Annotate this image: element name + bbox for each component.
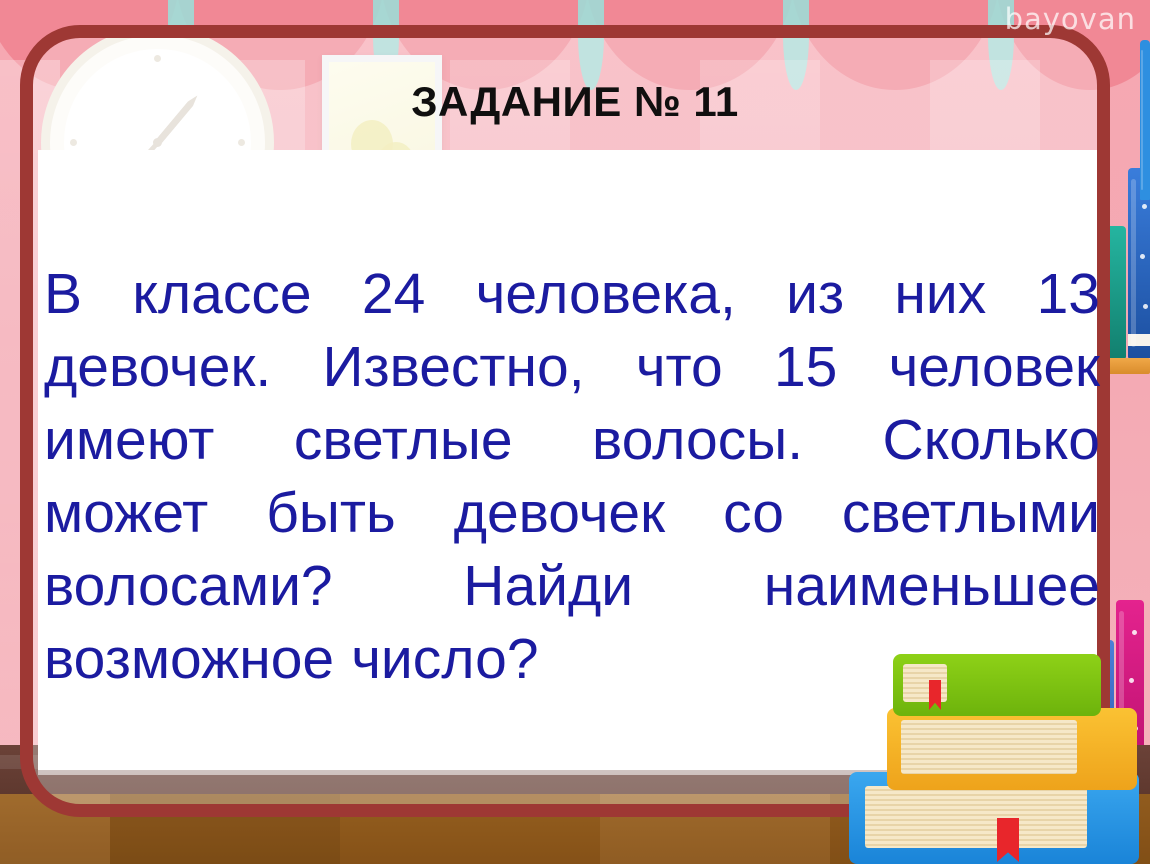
page-title: ЗАДАНИЕ № 11	[0, 78, 1150, 126]
task-word: имеют	[44, 404, 214, 477]
task-text-line: может быть девочек со светлыми	[44, 477, 1100, 550]
task-text-line: имеют светлые волосы. Сколько	[44, 404, 1100, 477]
task-text: В классе 24 человека, из них 13 девочек.…	[44, 258, 1100, 696]
task-word: В	[44, 258, 82, 331]
task-text-line: волосами? Найди наименьшее	[44, 550, 1100, 623]
task-word: светлые	[294, 404, 513, 477]
task-word: 13	[1037, 258, 1100, 331]
task-word: наименьшее	[764, 550, 1100, 623]
book-dot	[1143, 304, 1148, 309]
task-word: классе	[132, 258, 311, 331]
book-yellow	[887, 708, 1137, 790]
task-word: волосы.	[592, 404, 803, 477]
book-yellow-pages	[901, 720, 1077, 774]
book-dot	[1142, 204, 1147, 209]
task-word: 15	[774, 331, 837, 404]
book-dot	[1132, 630, 1137, 635]
task-word: человек	[889, 331, 1100, 404]
task-word: девочек.	[44, 331, 271, 404]
book-stack-illustration	[845, 650, 1145, 864]
task-text-line: В классе 24 человека, из них 13	[44, 258, 1100, 331]
task-word: девочек	[454, 477, 665, 550]
task-word: быть	[266, 477, 395, 550]
task-word: человека,	[476, 258, 736, 331]
slide-canvas: ЗАДАНИЕ № 11 В классе 24 человека, из ни…	[0, 0, 1150, 864]
task-word: Найди	[463, 550, 633, 623]
task-word: число?	[351, 623, 538, 696]
task-word: Известно,	[322, 331, 584, 404]
task-word: из	[786, 258, 844, 331]
book-dot	[1140, 254, 1145, 259]
book-green	[893, 654, 1101, 716]
task-word: светлыми	[842, 477, 1100, 550]
task-text-line: девочек. Известно, что 15 человек	[44, 331, 1100, 404]
book-blue-pages	[865, 786, 1087, 848]
task-word: может	[44, 477, 208, 550]
task-word: возможное	[44, 623, 334, 696]
task-word: со	[723, 477, 784, 550]
book-band	[1128, 334, 1150, 346]
task-word: волосами?	[44, 550, 333, 623]
task-word: что	[636, 331, 723, 404]
task-word: них	[894, 258, 986, 331]
task-word: Сколько	[883, 404, 1100, 477]
watermark-text: bayovan	[1005, 2, 1136, 36]
task-word: 24	[362, 258, 425, 331]
